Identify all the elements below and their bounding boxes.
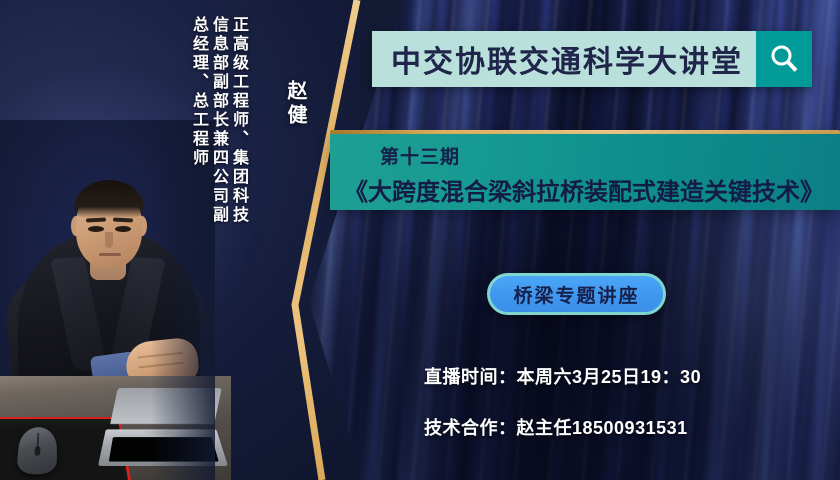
technical-contact: 技术合作：赵主任18500931531	[424, 414, 701, 440]
speaker-bio-column-2: 信息部副部长兼四公司副	[210, 16, 226, 225]
episode-banner: 第十三期 《大跨度混合梁斜拉桥装配式建造关键技术》	[330, 134, 840, 210]
speaker-bio-column-3: 总经理、总工程师	[190, 16, 206, 168]
page-title: 中交协联交通科学大讲堂	[372, 31, 756, 87]
episode-number: 第十三期	[380, 142, 826, 169]
desk-surface	[0, 376, 231, 480]
laptop-trackpad	[145, 430, 171, 435]
speaker-name: 赵健	[285, 80, 305, 128]
computer-mouse	[16, 427, 57, 474]
laptop-base	[98, 429, 228, 466]
laptop-keyboard	[109, 437, 219, 461]
mouse-wheel	[34, 446, 40, 455]
mouth	[99, 253, 121, 256]
episode-topic: 《大跨度混合梁斜拉桥装配式建造关键技术》	[344, 172, 826, 207]
info-block: 直播时间：本周六3月25日19：30 技术合作：赵主任18500931531	[424, 363, 701, 440]
search-icon	[767, 42, 801, 76]
nose	[105, 232, 113, 248]
poster-root: 中交协联交通科学大讲堂 第十三期 《大跨度混合梁斜拉桥装配式建造关键技术》 桥梁…	[0, 0, 840, 480]
speaker-bio: 正高级工程师、集团科技 信息部副部长兼四公司副 总经理、总工程师	[190, 16, 246, 225]
category-pill[interactable]: 桥梁专题讲座	[487, 273, 666, 315]
title-bar: 中交协联交通科学大讲堂	[372, 31, 812, 87]
search-button[interactable]	[756, 31, 812, 87]
broadcast-time: 直播时间：本周六3月25日19：30	[424, 363, 701, 389]
eye-right	[115, 226, 131, 232]
speaker-bio-column-1: 正高级工程师、集团科技	[230, 16, 246, 225]
eye-left	[88, 226, 104, 232]
laptop-lid	[110, 388, 222, 424]
speaker-photo	[0, 120, 215, 480]
hair	[74, 180, 144, 218]
